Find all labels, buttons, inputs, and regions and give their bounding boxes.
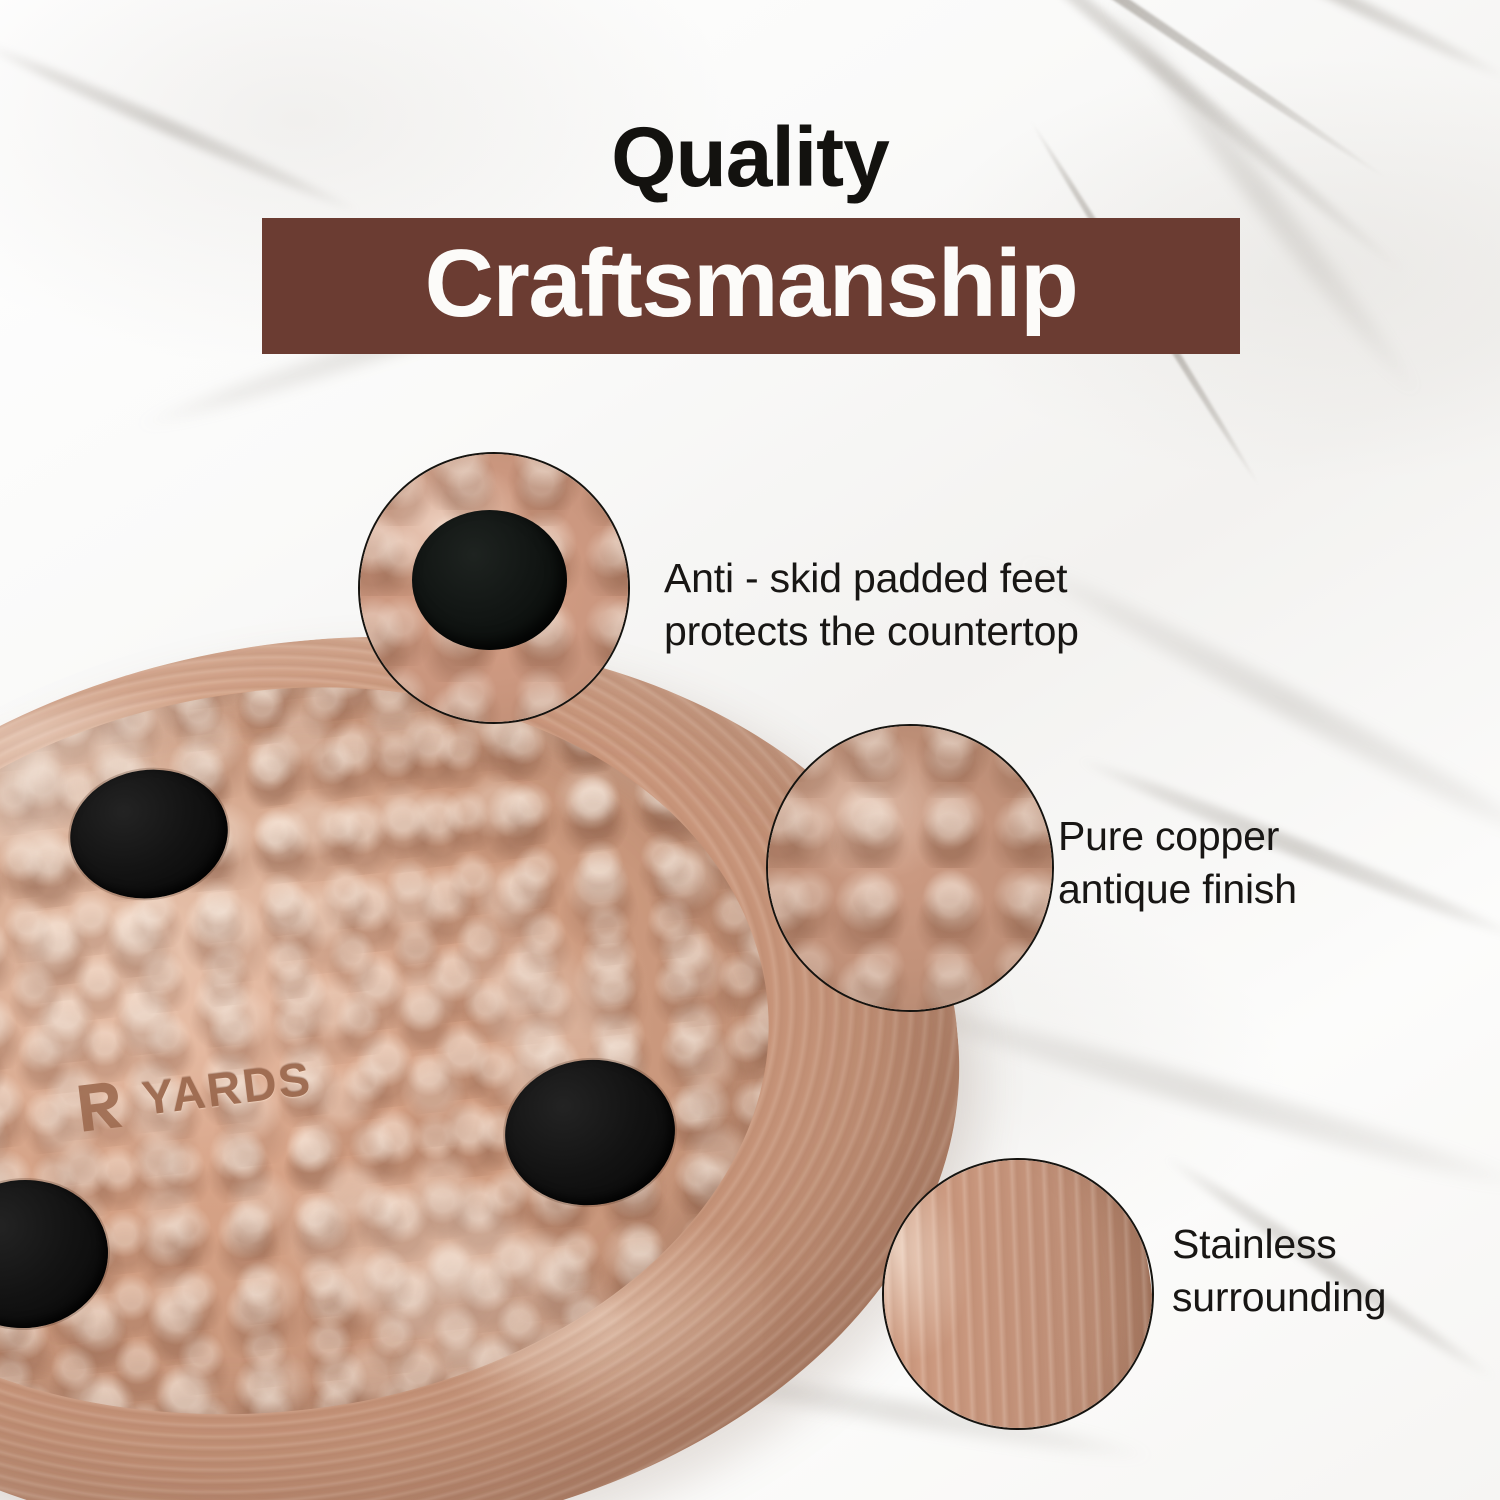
title-banner: Craftsmanship: [262, 218, 1240, 354]
copper-surface-fill: [768, 726, 1052, 1010]
callout-circle-anti-skid: [358, 452, 630, 724]
spun-ring-texture: [882, 1158, 1154, 1430]
callout-circle-copper-finish: [766, 724, 1054, 1012]
r-monogram-icon: [69, 1067, 140, 1138]
callout-label-copper-finish: Pure copper antique finish: [1058, 810, 1478, 917]
page-title-line2: Craftsmanship: [425, 236, 1078, 332]
callout-label-anti-skid: Anti - skid padded feet protects the cou…: [664, 552, 1224, 659]
callout-circle-stainless-rim: [882, 1158, 1154, 1430]
infographic-canvas: Quality Craftsmanship YARDS: [0, 0, 1500, 1500]
page-title-line1: Quality: [0, 113, 1500, 202]
copper-rim-edge: [882, 1158, 1154, 1430]
dimple-pattern-layer-b: [766, 724, 1054, 1012]
black-rubber-pad: [412, 510, 567, 650]
callout-label-stainless: Stainless surrounding: [1172, 1218, 1500, 1325]
